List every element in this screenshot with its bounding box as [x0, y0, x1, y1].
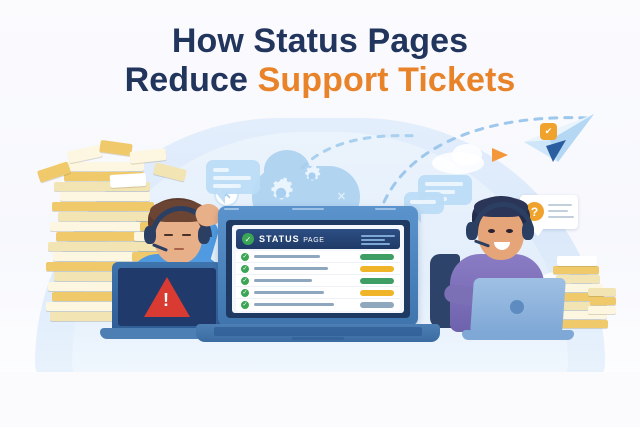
- status-page-rows: ✓ ✓ ✓ ✓: [236, 251, 400, 311]
- chat-bubble: [206, 160, 260, 194]
- check-circle-icon: ✓: [242, 233, 254, 245]
- gear-icon-small: [300, 164, 324, 188]
- check-icon: ✓: [241, 301, 249, 309]
- title-line-1: How Status Pages: [0, 22, 640, 61]
- status-page-header: ✓ STATUS PAGE: [236, 229, 400, 249]
- status-badge: [360, 266, 394, 272]
- page-title: How Status Pages Reduce Support Tickets: [0, 22, 640, 100]
- title-line-2: Reduce Support Tickets: [0, 61, 640, 100]
- status-page-laptop: ✓ STATUS PAGE ✓ ✓: [218, 206, 418, 326]
- title-line-2-navy: Reduce: [125, 61, 258, 99]
- service-name-bar: [254, 255, 320, 258]
- status-page-title-sub: PAGE: [303, 237, 324, 244]
- headset-earcup: [522, 222, 534, 240]
- gear-icon-large: [264, 176, 298, 210]
- check-icon: ✓: [241, 289, 249, 297]
- foreground-floor: [0, 372, 640, 427]
- paper-plane-icon: [520, 112, 598, 170]
- agent-face-detail: [164, 234, 173, 236]
- warning-exclamation-glyph: !: [163, 290, 169, 311]
- orange-arrow-icon: [492, 148, 508, 162]
- status-badge: [360, 278, 394, 284]
- status-badge: [360, 302, 394, 308]
- agent-face-detail: [174, 248, 184, 250]
- table-row[interactable]: ✓: [236, 275, 400, 287]
- table-row[interactable]: ✓: [236, 287, 400, 299]
- service-name-bar: [254, 279, 312, 282]
- service-name-bar: [254, 291, 324, 294]
- status-page-screen[interactable]: ✓ STATUS PAGE ✓ ✓: [232, 225, 404, 313]
- headset-earcup: [198, 226, 210, 244]
- status-page-meta: [361, 235, 395, 247]
- headset-earcup: [144, 226, 156, 244]
- headset-earcup: [466, 222, 478, 240]
- agent-face-detail: [506, 229, 513, 233]
- title-line-2-orange: Support Tickets: [258, 61, 516, 99]
- status-badge: [360, 290, 394, 296]
- check-icon: ✓: [241, 253, 249, 261]
- right-laptop-logo: [510, 300, 524, 314]
- x-mark-icon: ✕: [334, 189, 349, 204]
- laptop-top-bezel: [218, 206, 396, 212]
- check-icon: ✓: [241, 265, 249, 273]
- agent-face-detail: [182, 234, 191, 236]
- check-icon: ✓: [241, 277, 249, 285]
- status-badge: [360, 254, 394, 260]
- service-name-bar: [254, 267, 328, 270]
- plane-badge-check-icon: ✔: [540, 123, 557, 140]
- right-laptop-base: [462, 330, 574, 340]
- agent-face-detail: [488, 229, 495, 233]
- table-row[interactable]: ✓: [236, 251, 400, 263]
- laptop-trackpad[interactable]: [292, 337, 344, 340]
- table-row[interactable]: ✓: [236, 263, 400, 275]
- service-name-bar: [254, 303, 334, 306]
- status-page-title-main: STATUS: [259, 234, 300, 244]
- laptop-bezel: ✓ STATUS PAGE ✓ ✓: [226, 220, 410, 318]
- status-page-title: STATUS PAGE: [259, 234, 325, 244]
- illustration-canvas: ✔ ✕ ✕: [0, 0, 640, 427]
- laptop-keyboard[interactable]: [214, 327, 422, 336]
- table-row[interactable]: ✓: [236, 299, 400, 310]
